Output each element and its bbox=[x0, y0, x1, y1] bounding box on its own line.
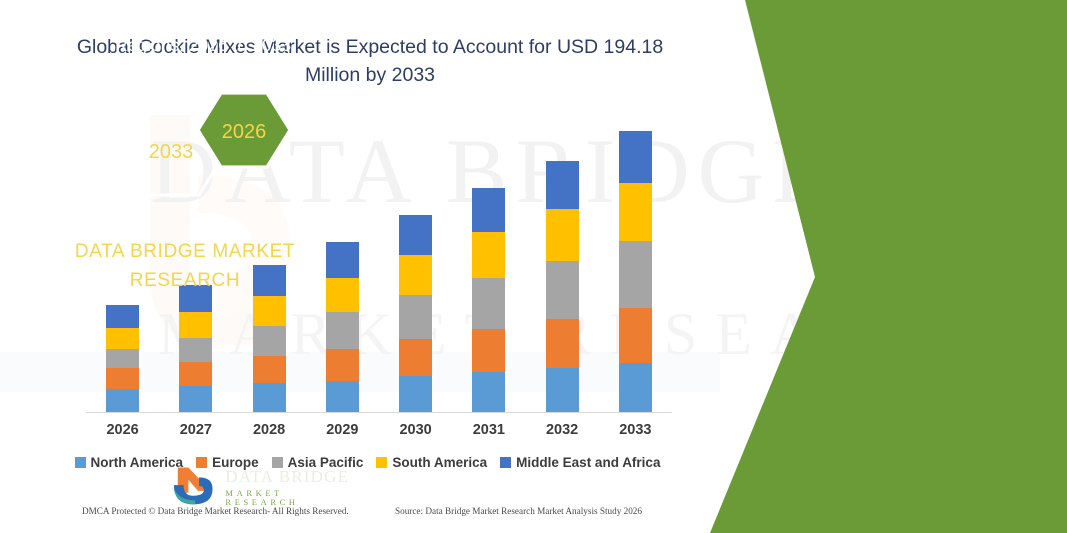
chart-bar-segment bbox=[179, 338, 212, 362]
green-panel-title: Global Cookie Mixes Market, By Regions, … bbox=[62, 8, 344, 59]
chart-bar-segment bbox=[179, 386, 212, 412]
chart-bar bbox=[546, 161, 579, 412]
chart-bar-segment bbox=[619, 308, 652, 364]
chart-bar bbox=[179, 285, 212, 412]
chart-bar-group bbox=[379, 112, 452, 412]
chart-bar-segment bbox=[106, 305, 139, 328]
chart-bar-segment bbox=[619, 363, 652, 412]
x-axis-tick-label: 2032 bbox=[526, 422, 599, 438]
dbmr-logo-mark-icon bbox=[172, 465, 216, 509]
x-axis-labels: 20262027202820292030203120322033 bbox=[86, 422, 672, 438]
footer-source: Source: Data Bridge Market Research Mark… bbox=[395, 506, 642, 516]
legend-label: Middle East and Africa bbox=[516, 455, 660, 470]
chart-bar-segment bbox=[253, 296, 286, 326]
chart-bar-segment bbox=[472, 329, 505, 372]
chart-bar-group bbox=[599, 112, 672, 412]
chart-bar-segment bbox=[472, 278, 505, 329]
infographic-root: DATA BRIDGE MARKET RESEARCH Global Cooki… bbox=[0, 0, 1067, 533]
x-axis-tick-label: 2031 bbox=[452, 422, 525, 438]
chart-bar-segment bbox=[253, 383, 286, 412]
legend-item[interactable]: Middle East and Africa bbox=[500, 455, 660, 470]
chart-bar-segment bbox=[179, 312, 212, 338]
chart-bar-segment bbox=[399, 339, 432, 376]
x-axis-tick-label: 2029 bbox=[306, 422, 379, 438]
chart-bar-segment bbox=[546, 319, 579, 368]
legend-swatch-icon bbox=[376, 457, 387, 468]
chart-bar-group bbox=[526, 112, 599, 412]
chart-bar-segment bbox=[619, 241, 652, 308]
x-axis-tick-label: 2027 bbox=[159, 422, 232, 438]
chart-bar-segment bbox=[179, 362, 212, 386]
x-axis-tick-label: 2033 bbox=[599, 422, 672, 438]
chart-bar-segment bbox=[106, 368, 139, 389]
chart-bar-segment bbox=[106, 328, 139, 349]
hexagon-2026-icon: 2026 bbox=[198, 93, 290, 167]
x-axis-tick-label: 2026 bbox=[86, 422, 159, 438]
dbmr-logo: DATA BRIDGE MARKET RESEARCH bbox=[172, 462, 357, 512]
chart-bar bbox=[472, 188, 505, 412]
footer: DMCA Protected © Data Bridge Market Rese… bbox=[0, 506, 720, 516]
green-side-panel bbox=[700, 0, 1067, 533]
chart-bar-segment bbox=[619, 131, 652, 184]
chart-bar bbox=[619, 131, 652, 412]
legend-swatch-icon bbox=[75, 457, 86, 468]
chart-bar-segment bbox=[546, 209, 579, 260]
chart-bar-segment bbox=[546, 368, 579, 412]
chart-bar-segment bbox=[106, 389, 139, 412]
chart-bar-segment bbox=[399, 376, 432, 412]
chart-legend: North AmericaEuropeAsia PacificSouth Ame… bbox=[0, 455, 735, 470]
chart-bar bbox=[399, 215, 432, 412]
legend-label: South America bbox=[392, 455, 487, 470]
legend-label: North America bbox=[91, 455, 184, 470]
chart-bar-segment bbox=[326, 312, 359, 349]
legend-item[interactable]: South America bbox=[376, 455, 487, 470]
chart-bar-segment bbox=[253, 326, 286, 356]
chart-bar-segment bbox=[399, 295, 432, 339]
chart-bar-segment bbox=[399, 255, 432, 295]
x-axis-tick-label: 2028 bbox=[233, 422, 306, 438]
x-axis-tick-label: 2030 bbox=[379, 422, 452, 438]
chart-bar-segment bbox=[546, 161, 579, 210]
chart-bar-segment bbox=[399, 215, 432, 255]
chart-bar-segment bbox=[472, 188, 505, 232]
chart-bar-segment bbox=[253, 356, 286, 383]
hexagon-2026-label: 2026 bbox=[222, 121, 267, 143]
hexagon-group: 2033 2026 bbox=[95, 85, 335, 215]
brand-name: DATA BRIDGE MARKET RESEARCH bbox=[35, 238, 335, 295]
chart-bar-segment bbox=[472, 372, 505, 412]
chart-bar-segment bbox=[619, 183, 652, 240]
chart-bar-segment bbox=[546, 261, 579, 320]
chart-bar-segment bbox=[326, 349, 359, 380]
dbmr-logo-main: DATA BRIDGE bbox=[225, 468, 357, 485]
chart-bar bbox=[106, 305, 139, 412]
legend-swatch-icon bbox=[500, 457, 511, 468]
dbmr-logo-sub: MARKET RESEARCH bbox=[225, 489, 357, 506]
chart-bar-segment bbox=[106, 349, 139, 368]
hexagon-2033-label: 2033 bbox=[149, 141, 194, 163]
hexagons-svg: 2033 2026 bbox=[95, 85, 335, 215]
chart-bar-segment bbox=[326, 381, 359, 412]
chart-bar-group bbox=[452, 112, 525, 412]
chart-bar-segment bbox=[472, 232, 505, 278]
legend-item[interactable]: North America bbox=[75, 455, 184, 470]
dbmr-logo-wordmark: DATA BRIDGE MARKET RESEARCH bbox=[225, 468, 357, 506]
x-axis-line bbox=[86, 412, 672, 413]
